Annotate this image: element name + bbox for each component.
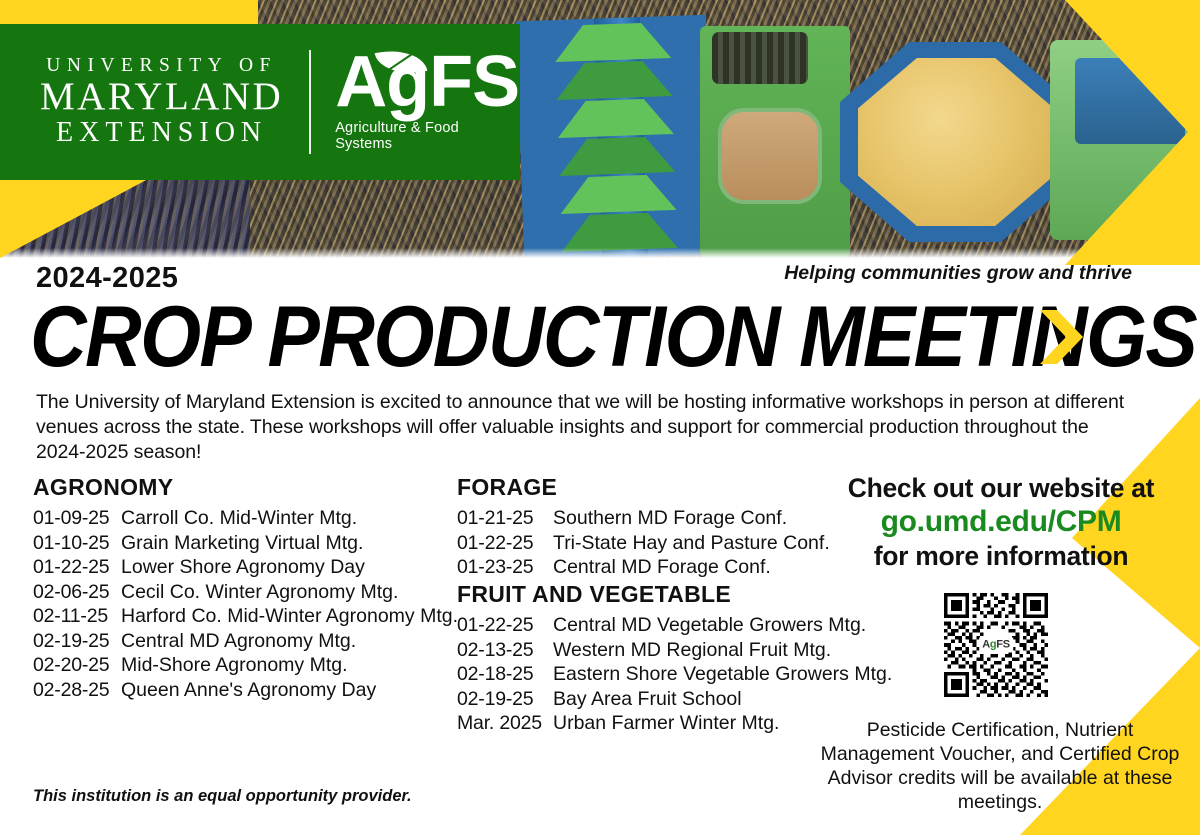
intro-paragraph: The University of Maryland Extension is … xyxy=(36,390,1142,465)
section-forage: FORAGE 01-21-25 Southern MD Forage Conf.… xyxy=(457,474,830,580)
equal-opportunity-statement: This institution is an equal opportunity… xyxy=(33,787,412,806)
promo-url[interactable]: go.umd.edu/CPM xyxy=(826,504,1176,540)
event-date: 01-09-25 xyxy=(33,506,121,531)
credits-note: Pesticide Certification, Nutrient Manage… xyxy=(820,718,1180,814)
yellow-chevron-top-right xyxy=(970,0,1200,265)
section-heading-agronomy: AGRONOMY xyxy=(33,474,458,501)
event-name: Carroll Co. Mid-Winter Mtg. xyxy=(121,506,357,531)
event-row: 02-28-25 Queen Anne's Agronomy Day xyxy=(33,678,458,703)
event-name: Western MD Regional Fruit Mtg. xyxy=(553,638,831,663)
event-date: Mar. 2025 xyxy=(457,711,553,736)
logo-divider xyxy=(309,50,311,154)
agfs-wordmark: AgFS xyxy=(335,52,520,114)
umd-extension-logo-block: UNIVERSITY OF MARYLAND EXTENSION AgFS Ag… xyxy=(0,24,520,180)
section-heading-forage: FORAGE xyxy=(457,474,830,501)
event-name: Central MD Agronomy Mtg. xyxy=(121,629,356,654)
combine-tire-icon xyxy=(712,32,808,84)
section-fruit-and-vegetable: FRUIT AND VEGETABLE 01-22-25 Central MD … xyxy=(457,581,892,736)
event-name: Tri-State Hay and Pasture Conf. xyxy=(553,531,830,556)
combine-corn-head-icon xyxy=(516,15,714,258)
event-date: 01-23-25 xyxy=(457,555,553,580)
logo-line-extension: EXTENSION xyxy=(40,119,283,148)
combine-grain-tank-icon xyxy=(718,108,822,204)
event-date: 01-21-25 xyxy=(457,506,553,531)
event-row: 02-11-25 Harford Co. Mid-Winter Agronomy… xyxy=(33,604,458,629)
chevron-right-icon xyxy=(1036,306,1084,368)
logo-line-university: UNIVERSITY OF xyxy=(40,56,283,76)
event-row: 01-23-25 Central MD Forage Conf. xyxy=(457,555,830,580)
event-row: 01-10-25 Grain Marketing Virtual Mtg. xyxy=(33,531,458,556)
agfs-tagline: Agriculture & Food Systems xyxy=(335,120,520,152)
event-name: Lower Shore Agronomy Day xyxy=(121,555,365,580)
logo-line-maryland: MARYLAND xyxy=(40,77,283,117)
event-date: 02-06-25 xyxy=(33,580,121,605)
page-title: CROP PRODUCTION MEETINGS xyxy=(30,294,1196,380)
event-name: Grain Marketing Virtual Mtg. xyxy=(121,531,363,556)
event-date: 02-13-25 xyxy=(457,638,553,663)
event-name: Mid-Shore Agronomy Mtg. xyxy=(121,653,348,678)
event-date: 01-22-25 xyxy=(457,613,553,638)
event-row: 02-06-25 Cecil Co. Winter Agronomy Mtg. xyxy=(33,580,458,605)
event-name: Urban Farmer Winter Mtg. xyxy=(553,711,779,736)
promo-line-1: Check out our website at xyxy=(826,472,1176,504)
event-date: 02-18-25 xyxy=(457,662,553,687)
qr-center-agfs-logo: AgFS xyxy=(979,638,1013,653)
promo-line-3: for more information xyxy=(826,540,1176,572)
event-name: Central MD Forage Conf. xyxy=(553,555,771,580)
crop-production-meetings-flyer: UNIVERSITY OF MARYLAND EXTENSION AgFS Ag… xyxy=(0,0,1200,835)
event-date: 01-10-25 xyxy=(33,531,121,556)
event-date: 02-19-25 xyxy=(457,687,553,712)
event-row: 01-09-25 Carroll Co. Mid-Winter Mtg. xyxy=(33,506,458,531)
event-date: 02-20-25 xyxy=(33,653,121,678)
event-date: 02-11-25 xyxy=(33,604,121,629)
event-date: 02-28-25 xyxy=(33,678,121,703)
event-row: 02-13-25 Western MD Regional Fruit Mtg. xyxy=(457,638,892,663)
event-row: 01-22-25 Central MD Vegetable Growers Mt… xyxy=(457,613,892,638)
event-row: 02-19-25 Bay Area Fruit School xyxy=(457,687,892,712)
event-name: Southern MD Forage Conf. xyxy=(553,506,787,531)
event-row: 02-20-25 Mid-Shore Agronomy Mtg. xyxy=(33,653,458,678)
event-date: 01-22-25 xyxy=(457,531,553,556)
university-of-maryland-extension-logo: UNIVERSITY OF MARYLAND EXTENSION xyxy=(0,56,283,147)
agfs-logo: AgFS Agriculture & Food Systems xyxy=(335,52,520,152)
event-name: Eastern Shore Vegetable Growers Mtg. xyxy=(553,662,892,687)
event-row: 01-21-25 Southern MD Forage Conf. xyxy=(457,506,830,531)
event-date: 01-22-25 xyxy=(33,555,121,580)
extension-tagline: Helping communities grow and thrive xyxy=(784,262,1132,285)
website-promo-block: Check out our website at go.umd.edu/CPM … xyxy=(826,472,1176,572)
event-name: Queen Anne's Agronomy Day xyxy=(121,678,376,703)
event-name: Bay Area Fruit School xyxy=(553,687,742,712)
event-row: 02-18-25 Eastern Shore Vegetable Growers… xyxy=(457,662,892,687)
event-name: Cecil Co. Winter Agronomy Mtg. xyxy=(121,580,398,605)
section-heading-fruit-and-vegetable: FRUIT AND VEGETABLE xyxy=(457,581,892,608)
event-name: Harford Co. Mid-Winter Agronomy Mtg. xyxy=(121,604,458,629)
event-row: 01-22-25 Tri-State Hay and Pasture Conf. xyxy=(457,531,830,556)
qr-code[interactable]: AgFS xyxy=(932,589,1060,701)
event-name: Central MD Vegetable Growers Mtg. xyxy=(553,613,866,638)
event-row: 01-22-25 Lower Shore Agronomy Day xyxy=(33,555,458,580)
section-agronomy: AGRONOMY 01-09-25 Carroll Co. Mid-Winter… xyxy=(33,474,458,702)
event-row: 02-19-25 Central MD Agronomy Mtg. xyxy=(33,629,458,654)
event-date: 02-19-25 xyxy=(33,629,121,654)
